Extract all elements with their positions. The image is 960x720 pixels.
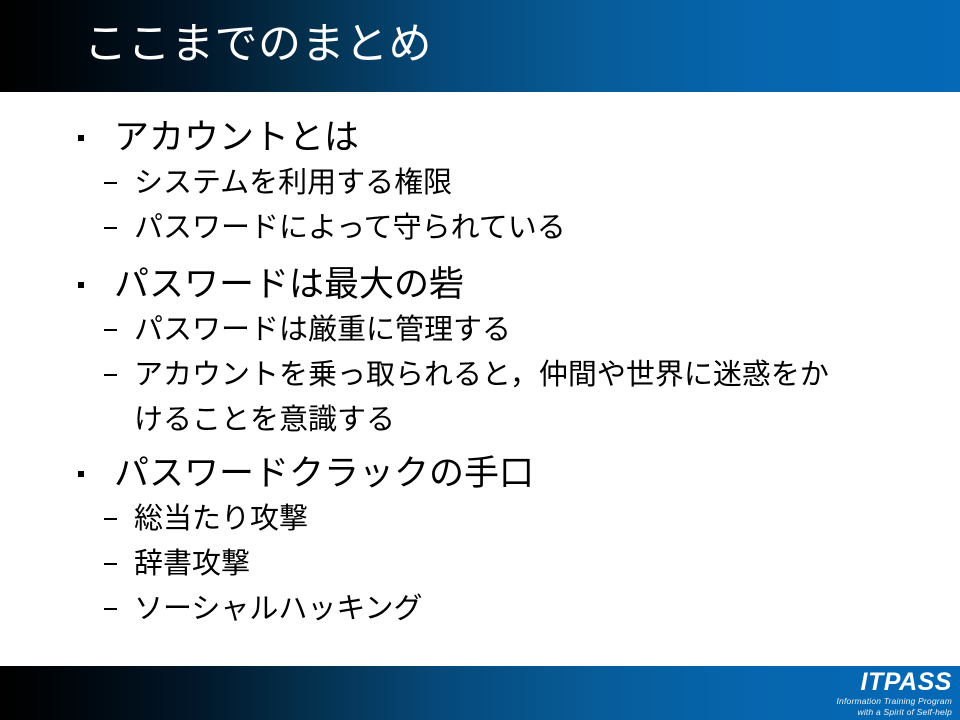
slide-body: アカウントとは システムを利用する権限 パスワードによって守られている パスワー…	[0, 92, 960, 666]
bullet-level1-label: パスワードは最大の砦	[114, 265, 910, 306]
bullet-level2-item: システムを利用する権限	[70, 161, 910, 206]
dash-bullet-icon	[70, 161, 134, 184]
bullet-level2-label: アカウントを乗っ取られると，仲間や世界に迷惑をかけることを意識する	[134, 353, 834, 443]
bullet-level2-label: 総当たり攻撃	[134, 497, 834, 542]
itpass-logo: ITPASS Information Training Program with…	[836, 670, 952, 716]
dash-bullet-icon	[70, 497, 134, 520]
bullet-level2-item: パスワードによって守られている	[70, 206, 910, 251]
bullet-level2-label: ソーシャルハッキング	[134, 587, 834, 632]
bullet-group-2: パスワードは最大の砦 パスワードは厳重に管理する アカウントを乗っ取られると，仲…	[70, 265, 910, 443]
square-bullet-icon	[70, 118, 114, 141]
dash-bullet-icon	[70, 542, 134, 565]
bullet-group-1: アカウントとは システムを利用する権限 パスワードによって守られている	[70, 118, 910, 251]
dash-bullet-icon	[70, 308, 134, 331]
bullet-level2-label: パスワードによって守られている	[134, 206, 834, 251]
bullet-group-3: パスワードクラックの手口 総当たり攻撃 辞書攻撃 ソーシャルハッキング	[70, 454, 910, 632]
page-title: ここまでのまとめ	[84, 23, 432, 68]
bullet-level2-label: 辞書攻撃	[134, 542, 834, 587]
bullet-level2-label: パスワードは厳重に管理する	[134, 308, 834, 353]
bullet-level2-item: パスワードは厳重に管理する	[70, 308, 910, 353]
bullet-level1-label: パスワードクラックの手口	[114, 454, 910, 495]
dash-bullet-icon	[70, 587, 134, 610]
bullet-level2-item: 辞書攻撃	[70, 542, 910, 587]
itpass-tagline-line1: Information Training Program	[836, 697, 952, 706]
square-bullet-icon	[70, 265, 114, 288]
bullet-level1-item: アカウントとは	[70, 118, 910, 159]
bullet-level1-item: パスワードクラックの手口	[70, 454, 910, 495]
square-bullet-icon	[70, 454, 114, 477]
bullet-level2-item: ソーシャルハッキング	[70, 587, 910, 632]
slide-footer-band: ITPASS Information Training Program with…	[0, 666, 960, 720]
dash-bullet-icon	[70, 353, 134, 376]
bullet-level1-label: アカウントとは	[114, 118, 910, 159]
bullet-level1-item: パスワードは最大の砦	[70, 265, 910, 306]
bullet-level2-item: アカウントを乗っ取られると，仲間や世界に迷惑をかけることを意識する	[70, 353, 910, 443]
bullet-level2-label: システムを利用する権限	[134, 161, 834, 206]
presentation-slide: ここまでのまとめ アカウントとは システムを利用する権限 パスワードによって守ら…	[0, 0, 960, 720]
itpass-brand-text: ITPASS	[836, 670, 952, 695]
dash-bullet-icon	[70, 206, 134, 229]
slide-header-band: ここまでのまとめ	[0, 0, 960, 92]
bullet-level2-item: 総当たり攻撃	[70, 497, 910, 542]
itpass-tagline-line2: with a Spirit of Self-help	[836, 708, 952, 717]
